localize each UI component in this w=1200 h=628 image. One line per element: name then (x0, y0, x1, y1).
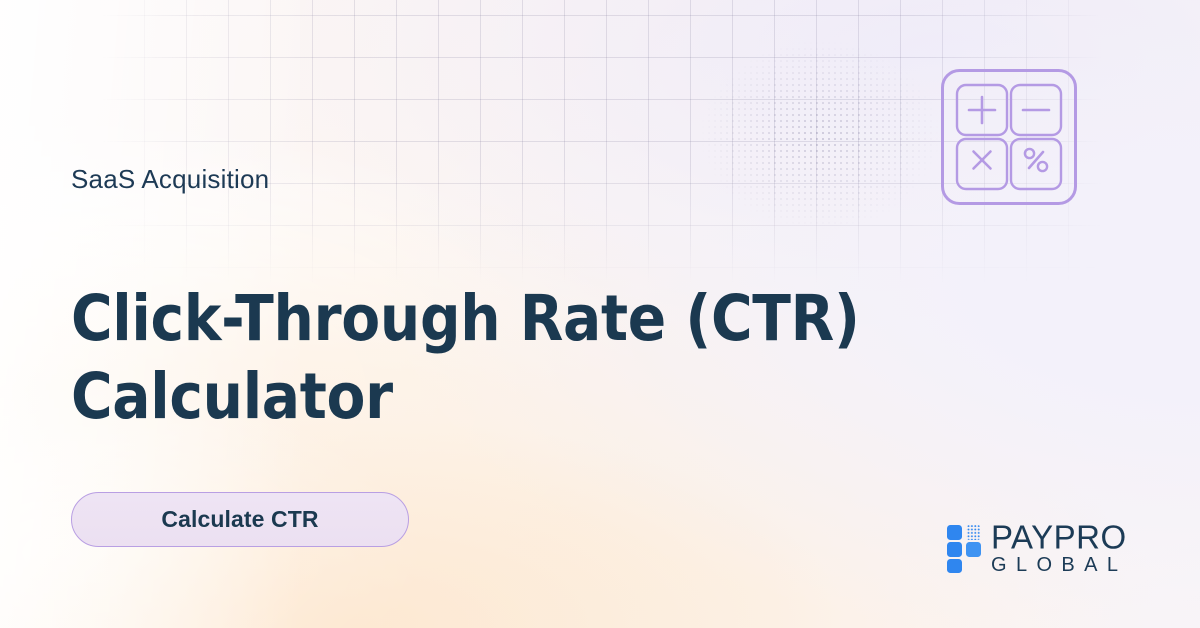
page-title-line-1: Click-Through Rate (CTR) (71, 280, 931, 358)
background-dot-texture (700, 40, 940, 230)
category-eyebrow: SaaS Acquisition (71, 164, 269, 195)
paypro-global-logo: PAYPRO GLOBAL (947, 521, 1147, 579)
page-title: Click-Through Rate (CTR) Calculator (71, 280, 931, 436)
paypro-blocks-mark-icon (947, 525, 987, 573)
logo-word-global: GLOBAL (991, 554, 1147, 576)
calculate-ctr-button[interactable]: Calculate CTR (71, 492, 409, 547)
logo-word-paypro: PAYPRO (991, 521, 1147, 554)
page-title-line-2: Calculator (71, 358, 931, 436)
paypro-global-wordmark: PAYPRO GLOBAL (991, 521, 1147, 576)
calculator-icon (941, 69, 1077, 205)
calculate-ctr-button-label: Calculate CTR (161, 506, 318, 533)
banner-root: SaaS Acquisition Click-Through Rate (CTR… (0, 0, 1200, 628)
